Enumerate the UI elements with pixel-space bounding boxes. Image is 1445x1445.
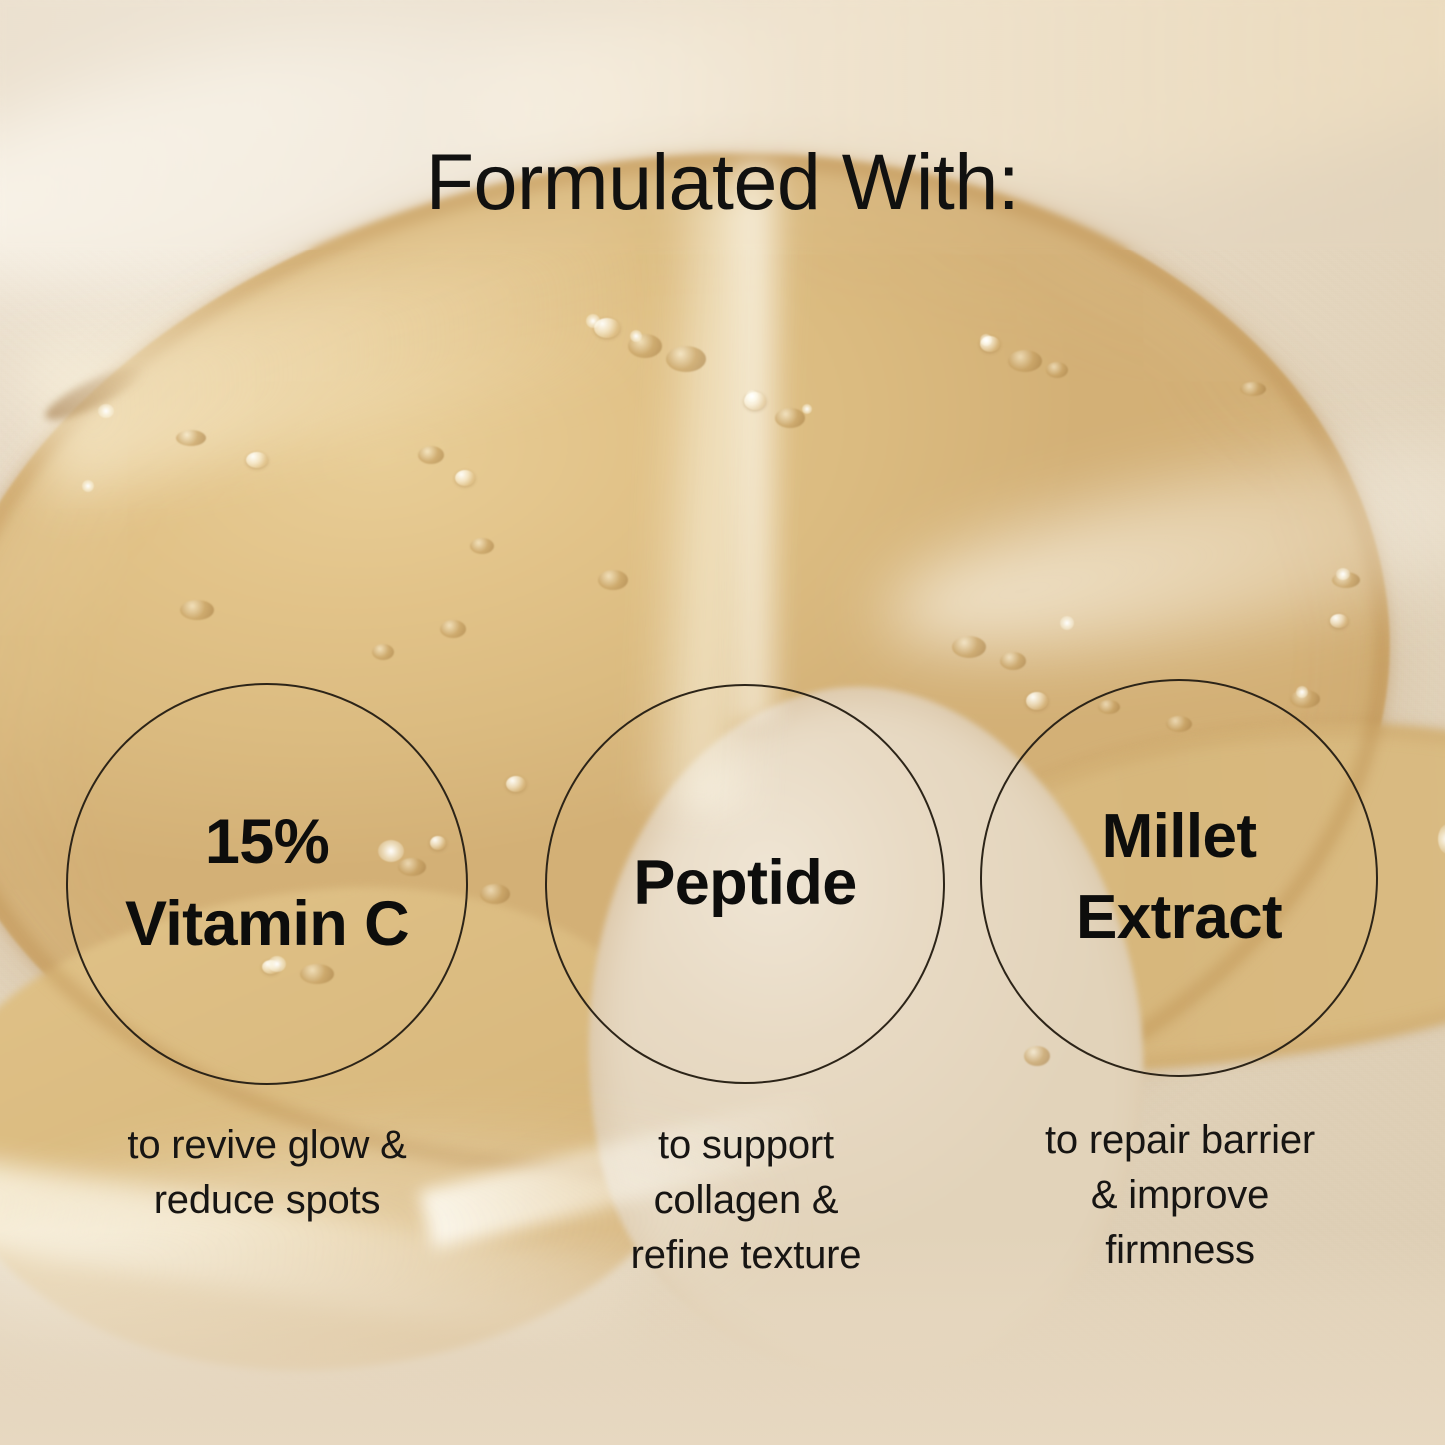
caption-line-1: to revive glow & [127, 1123, 406, 1167]
serum-bubble [1008, 350, 1042, 372]
ingredient-label-line2: Extract [1076, 883, 1282, 952]
ingredient-circle-peptide[interactable]: Peptide [545, 684, 945, 1084]
ingredient-label: Peptide [633, 843, 856, 925]
serum-glint [1336, 568, 1350, 580]
serum-bubble [666, 346, 706, 372]
ingredient-label-line1: Millet [1102, 802, 1257, 871]
serum-glint [630, 330, 642, 342]
caption-line-1: to support [658, 1123, 834, 1167]
serum-bubble [372, 644, 394, 660]
ingredient-label-line2: Vitamin C [125, 889, 409, 959]
serum-glint [1296, 686, 1308, 698]
serum-bubble [246, 452, 268, 468]
ingredient-label-line1: Peptide [633, 848, 856, 918]
caption-line-3: refine texture [631, 1233, 862, 1277]
serum-bubble [1046, 362, 1068, 378]
serum-bubble [418, 446, 444, 464]
ingredient-caption-peptide: to support collagen & refine texture [560, 1118, 932, 1284]
serum-bubble [180, 600, 214, 620]
serum-bubble [1330, 614, 1348, 628]
page-title: Formulated With: [0, 142, 1445, 221]
caption-line-2: collagen & [654, 1178, 839, 1222]
caption-line-2: & improve [1091, 1173, 1269, 1217]
serum-glint [586, 314, 600, 328]
caption-line-1: to repair barrier [1045, 1118, 1315, 1162]
serum-bubble [440, 620, 466, 638]
serum-bubble [455, 470, 475, 486]
infographic-canvas: Formulated With: 15% Vitamin C Peptide M… [0, 0, 1445, 1445]
caption-line-3: firmness [1105, 1228, 1255, 1272]
serum-glint [1060, 616, 1074, 630]
ingredient-circle-vitamin-c[interactable]: 15% Vitamin C [66, 683, 468, 1085]
ingredient-label: 15% Vitamin C [125, 802, 409, 966]
serum-bubble [480, 884, 510, 904]
serum-glint [980, 334, 992, 346]
caption-line-2: reduce spots [154, 1178, 381, 1222]
serum-glint [802, 404, 812, 414]
serum-bubble [775, 408, 805, 428]
serum-bubble [1026, 692, 1048, 710]
ingredient-caption-millet-extract: to repair barrier & improve firmness [988, 1113, 1372, 1279]
serum-glint [82, 480, 94, 492]
serum-bubble [176, 430, 206, 446]
ingredient-label-line1: 15% [205, 807, 329, 877]
ingredient-caption-vitamin-c: to revive glow & reduce spots [76, 1118, 458, 1228]
serum-bubble [470, 538, 494, 554]
serum-glint [98, 404, 114, 418]
ingredient-circle-millet-extract[interactable]: Millet Extract [980, 679, 1378, 1077]
serum-glint [746, 390, 758, 402]
serum-bubble [1240, 382, 1266, 396]
serum-bubble [506, 776, 526, 792]
serum-bubble [598, 570, 628, 590]
serum-bubble [1000, 652, 1026, 670]
serum-bubble [1024, 1046, 1050, 1066]
ingredient-label: Millet Extract [1076, 797, 1282, 958]
serum-bubble [952, 636, 986, 658]
